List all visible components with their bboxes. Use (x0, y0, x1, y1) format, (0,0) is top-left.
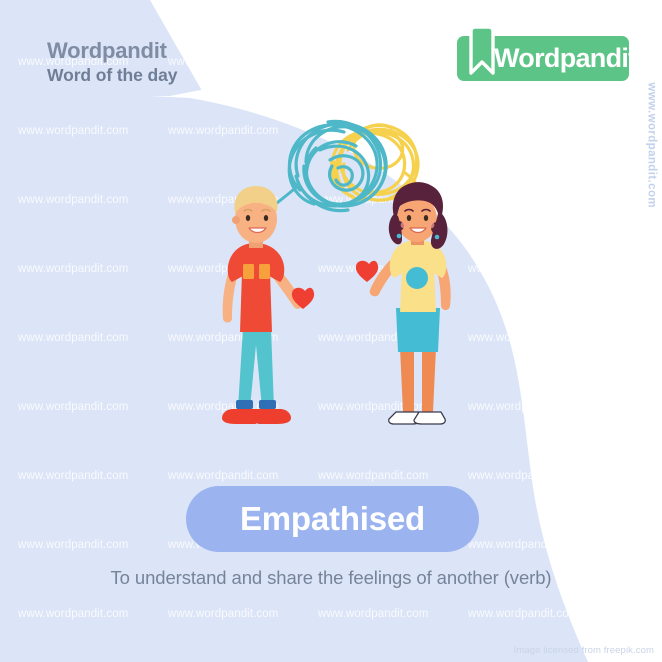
word-of-the-day-card: www.wordpandit.com www.wordpandit.com ww… (0, 0, 662, 662)
white-diagonal-shape (0, 0, 662, 662)
word-text: Empathised (240, 500, 425, 538)
page-title: Wordpandit (47, 38, 177, 64)
brand-block: Wordpandit Word of the day (47, 38, 177, 86)
image-credit: Image licensed from freepik.com (514, 645, 654, 656)
word-of-the-day-pill: Empathised (186, 486, 479, 552)
page-subtitle: Word of the day (47, 65, 177, 86)
bookmark-icon (469, 27, 495, 75)
logo-text: Wordpandit (494, 43, 636, 74)
vertical-watermark-text: www.wordpandit.com (646, 82, 658, 208)
wordpandit-logo[interactable]: Wordpandit (457, 36, 629, 81)
definition-text: To understand and share the feelings of … (0, 567, 662, 589)
